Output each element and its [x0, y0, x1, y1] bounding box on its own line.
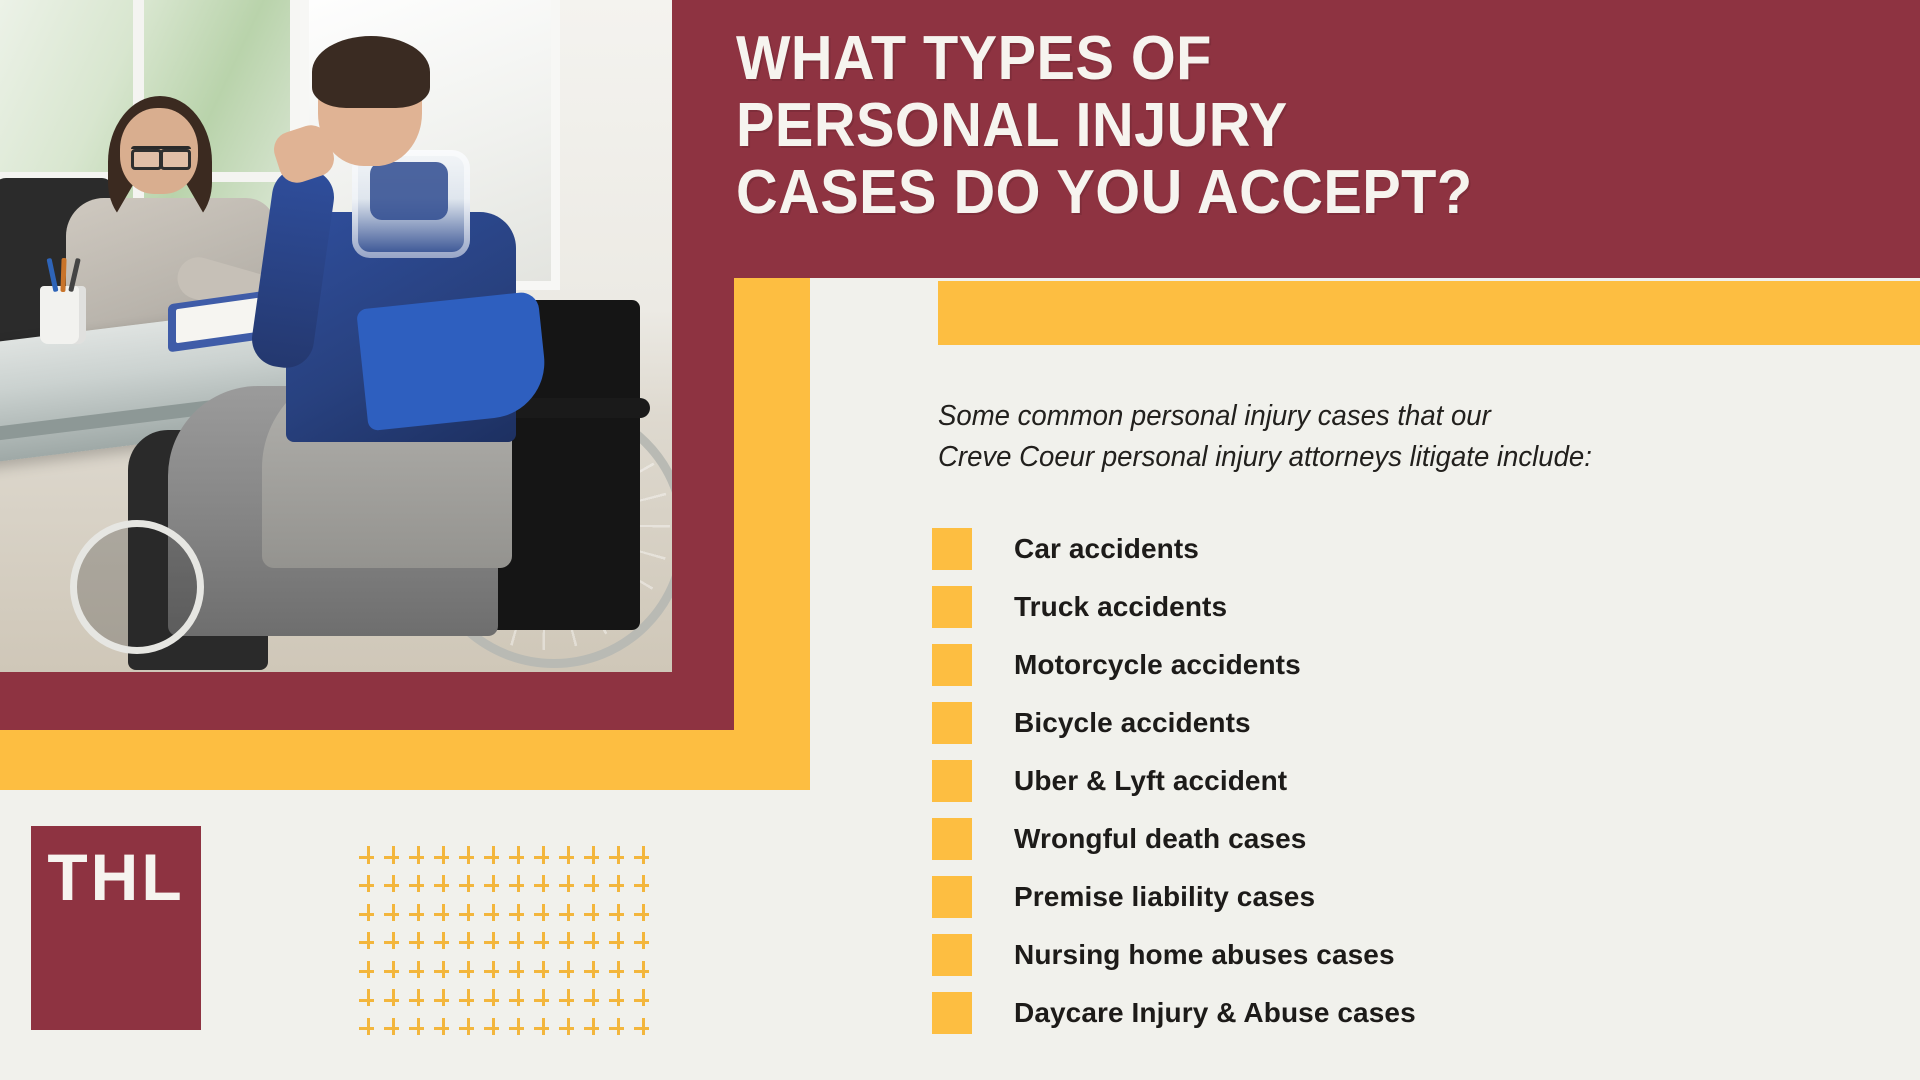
- list-item: Bicycle accidents: [932, 694, 1872, 752]
- photo-pen-cup: [40, 286, 86, 344]
- plus-icon: [631, 1014, 656, 1043]
- subtitle-line-1: Some common personal injury cases that o…: [938, 396, 1793, 437]
- plus-icon: [431, 843, 456, 872]
- case-type-label: Truck accidents: [1014, 591, 1227, 623]
- plus-icon: [531, 900, 556, 929]
- plus-icon: [581, 986, 606, 1015]
- plus-icon: [581, 872, 606, 901]
- plus-icon: [356, 900, 381, 929]
- plus-icon: [481, 843, 506, 872]
- plus-icon: [531, 843, 556, 872]
- plus-icon: [381, 986, 406, 1015]
- plus-icon: [381, 872, 406, 901]
- plus-icon: [456, 843, 481, 872]
- plus-icon: [431, 957, 456, 986]
- plus-icon: [356, 929, 381, 958]
- plus-icon: [606, 929, 631, 958]
- list-item: Daycare Injury & Abuse cases: [932, 984, 1872, 1042]
- plus-icon: [456, 986, 481, 1015]
- plus-icon: [381, 957, 406, 986]
- plus-icon: [631, 986, 656, 1015]
- plus-icon: [581, 929, 606, 958]
- page-title: WHAT TYPES OF PERSONAL INJURY CASES DO Y…: [736, 26, 1806, 227]
- plus-icon: [356, 1014, 381, 1043]
- plus-icon: [606, 1014, 631, 1043]
- plus-icon: [481, 986, 506, 1015]
- square-bullet-icon: [932, 760, 972, 802]
- plus-icon: [406, 957, 431, 986]
- plus-icon: [356, 843, 381, 872]
- square-bullet-icon: [932, 818, 972, 860]
- plus-icon: [381, 1014, 406, 1043]
- plus-icon: [506, 843, 531, 872]
- plus-icon: [606, 872, 631, 901]
- subtitle: Some common personal injury cases that o…: [938, 396, 1793, 478]
- plus-icon: [456, 900, 481, 929]
- plus-icon: [356, 872, 381, 901]
- plus-icon: [406, 1014, 431, 1043]
- plus-icon: [431, 872, 456, 901]
- plus-icon: [506, 1014, 531, 1043]
- plus-icon: [356, 986, 381, 1015]
- case-type-label: Daycare Injury & Abuse cases: [1014, 997, 1416, 1029]
- case-types-list: Car accidents Truck accidents Motorcycle…: [932, 520, 1872, 1042]
- square-bullet-icon: [932, 934, 972, 976]
- list-item: Nursing home abuses cases: [932, 926, 1872, 984]
- case-type-label: Bicycle accidents: [1014, 707, 1251, 739]
- title-accent-bar: [938, 281, 1920, 345]
- plus-icon: [481, 957, 506, 986]
- plus-icon: [631, 900, 656, 929]
- photo-client-neck-brace: [352, 150, 470, 258]
- case-type-label: Motorcycle accidents: [1014, 649, 1301, 681]
- title-line-3: CASES DO YOU ACCEPT?: [736, 160, 1806, 227]
- list-item: Wrongful death cases: [932, 810, 1872, 868]
- plus-icon: [431, 986, 456, 1015]
- plus-icon: [556, 957, 581, 986]
- photo-attorney-glasses: [131, 146, 191, 164]
- list-item: Truck accidents: [932, 578, 1872, 636]
- plus-icon: [606, 986, 631, 1015]
- case-type-label: Uber & Lyft accident: [1014, 765, 1287, 797]
- list-item: Premise liability cases: [932, 868, 1872, 926]
- plus-icon: [431, 929, 456, 958]
- plus-icon: [381, 900, 406, 929]
- plus-icon: [606, 957, 631, 986]
- plus-icon: [631, 957, 656, 986]
- title-banner: WHAT TYPES OF PERSONAL INJURY CASES DO Y…: [712, 0, 1920, 278]
- logo-text: THL: [31, 844, 201, 910]
- square-bullet-icon: [932, 992, 972, 1034]
- photo-pens: [48, 258, 80, 292]
- plus-icon: [631, 929, 656, 958]
- plus-icon: [481, 1014, 506, 1043]
- plus-icon: [431, 1014, 456, 1043]
- plus-icon: [406, 986, 431, 1015]
- plus-icon: [506, 872, 531, 901]
- plus-icon: [506, 900, 531, 929]
- plus-icon: [556, 872, 581, 901]
- plus-icon: [606, 900, 631, 929]
- plus-icon: [456, 957, 481, 986]
- plus-icon: [456, 929, 481, 958]
- title-line-1: WHAT TYPES OF: [736, 26, 1806, 93]
- plus-icon: [556, 1014, 581, 1043]
- plus-icon: [556, 986, 581, 1015]
- plus-icon: [506, 957, 531, 986]
- plus-icon: [506, 929, 531, 958]
- case-type-label: Nursing home abuses cases: [1014, 939, 1395, 971]
- plus-icon: [481, 872, 506, 901]
- plus-icon: [531, 872, 556, 901]
- plus-icon: [556, 929, 581, 958]
- square-bullet-icon: [932, 528, 972, 570]
- plus-icon: [381, 843, 406, 872]
- photo-wheelchair-caster: [70, 520, 204, 654]
- square-bullet-icon: [932, 644, 972, 686]
- plus-icon: [531, 957, 556, 986]
- square-bullet-icon: [932, 876, 972, 918]
- thl-logo: THL: [31, 826, 201, 1030]
- plus-icon: [581, 957, 606, 986]
- plus-icon: [581, 900, 606, 929]
- case-type-label: Premise liability cases: [1014, 881, 1315, 913]
- plus-icon: [481, 929, 506, 958]
- plus-icon: [406, 843, 431, 872]
- plus-icon: [531, 1014, 556, 1043]
- list-item: Motorcycle accidents: [932, 636, 1872, 694]
- case-type-label: Wrongful death cases: [1014, 823, 1306, 855]
- plus-icon: [506, 986, 531, 1015]
- list-item: Car accidents: [932, 520, 1872, 578]
- plus-icon: [406, 900, 431, 929]
- plus-icon: [481, 900, 506, 929]
- photo-client-hair: [312, 36, 430, 108]
- subtitle-line-2: Creve Coeur personal injury attorneys li…: [938, 437, 1793, 478]
- square-bullet-icon: [932, 702, 972, 744]
- plus-icon: [356, 957, 381, 986]
- plus-icon: [531, 929, 556, 958]
- plus-icon: [431, 900, 456, 929]
- plus-icon: [406, 872, 431, 901]
- plus-pattern-decoration: [356, 843, 656, 1043]
- consultation-photo: [0, 0, 672, 672]
- square-bullet-icon: [932, 586, 972, 628]
- plus-icon: [631, 872, 656, 901]
- plus-icon: [556, 900, 581, 929]
- plus-icon: [581, 1014, 606, 1043]
- plus-icon: [606, 843, 631, 872]
- infographic-page: WHAT TYPES OF PERSONAL INJURY CASES DO Y…: [0, 0, 1920, 1080]
- plus-icon: [581, 843, 606, 872]
- plus-icon: [456, 872, 481, 901]
- plus-icon: [456, 1014, 481, 1043]
- title-line-2: PERSONAL INJURY: [736, 93, 1806, 160]
- plus-icon: [381, 929, 406, 958]
- plus-icon: [406, 929, 431, 958]
- plus-icon: [631, 843, 656, 872]
- list-item: Uber & Lyft accident: [932, 752, 1872, 810]
- plus-icon: [531, 986, 556, 1015]
- case-type-label: Car accidents: [1014, 533, 1199, 565]
- plus-icon: [556, 843, 581, 872]
